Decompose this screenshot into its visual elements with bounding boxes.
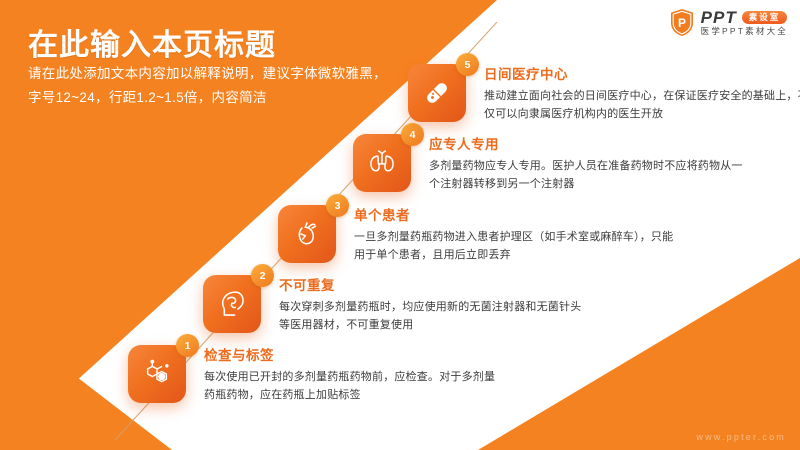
step-3-tile[interactable] <box>278 205 336 263</box>
capsule-icon <box>420 76 454 110</box>
heart-icon <box>290 217 324 251</box>
site-watermark: www.ppter.com <box>696 432 786 442</box>
step-5-title: 日间医疗中心 <box>484 67 800 83</box>
logo-tagline: 医学PPT素材大全 <box>701 27 788 36</box>
step-1-tile-wrap: 1 <box>128 345 186 403</box>
step-5-tile[interactable] <box>408 64 466 122</box>
step-1-desc: 每次使用已开封的多剂量药瓶药物前，应检查。对于多剂量药瓶药物，应在药瓶上加贴标签 <box>204 369 504 404</box>
step-3-tile-wrap: 3 <box>278 205 336 263</box>
shield-letter: P <box>678 16 686 30</box>
step-3-desc: 一旦多剂量药瓶药物进入患者护理区（如手术室或麻醉车），只能用于单个患者，且用后立… <box>354 229 674 264</box>
logo-badge-text: 素设室 <box>742 11 788 24</box>
step-4-desc: 多剂量药物应专人专用。医护人员在准备药物时不应将药物从一个注射器转移到另一个注射… <box>429 158 749 193</box>
molecule-icon <box>140 357 174 391</box>
step-4-title: 应专人专用 <box>429 137 749 153</box>
step-4-tile[interactable] <box>353 134 411 192</box>
step-2-badge: 2 <box>251 264 274 287</box>
step-item-3[interactable]: 3 单个患者 一旦多剂量药瓶药物进入患者护理区（如手术室或麻醉车），只能用于单个… <box>278 205 674 264</box>
step-2-body: 不可重复 每次穿刺多剂量药瓶时，均应使用新的无菌注射器和无菌针头等医用器材，不可… <box>279 275 589 334</box>
step-1-title: 检查与标签 <box>204 348 504 364</box>
step-item-2[interactable]: 2 不可重复 每次穿刺多剂量药瓶时，均应使用新的无菌注射器和无菌针头等医用器材，… <box>203 275 589 334</box>
step-1-badge: 1 <box>176 334 199 357</box>
step-2-desc: 每次穿刺多剂量药瓶时，均应使用新的无菌注射器和无菌针头等医用器材，不可重复使用 <box>279 299 589 334</box>
page-title: 在此输入本页标题 <box>28 20 276 64</box>
step-4-body: 应专人专用 多剂量药物应专人专用。医护人员在准备药物时不应将药物从一个注射器转移… <box>429 134 749 193</box>
step-4-badge: 4 <box>401 123 424 146</box>
step-5-desc: 推动建立面向社会的日间医疗中心，在保证医疗安全的基础上，不仅可以向隶属医疗机构内… <box>484 88 800 123</box>
step-3-body: 单个患者 一旦多剂量药瓶药物进入患者护理区（如手术室或麻醉车），只能用于单个患者… <box>354 205 674 264</box>
step-5-badge: 5 <box>456 53 479 76</box>
step-5-tile-wrap: 5 <box>408 64 466 122</box>
step-2-tile[interactable] <box>203 275 261 333</box>
step-item-1[interactable]: 1 检查与标签 每次使用已开封的多剂量药瓶药物前，应检查。对于多剂量药瓶药物，应… <box>128 345 504 404</box>
head-anatomy-icon <box>215 287 249 321</box>
step-item-4[interactable]: 4 应专人专用 多剂量药物应专人专用。医护人员在准备药物时不应将药物从一个注射器… <box>353 134 749 193</box>
kidneys-icon <box>365 146 399 180</box>
brand-logo[interactable]: P PPT 素设室 医学PPT素材大全 <box>669 8 788 37</box>
step-2-title: 不可重复 <box>279 278 589 294</box>
step-3-badge: 3 <box>326 194 349 217</box>
shield-icon: P <box>669 8 695 37</box>
step-item-5[interactable]: 5 日间医疗中心 推动建立面向社会的日间医疗中心，在保证医疗安全的基础上，不仅可… <box>408 64 800 123</box>
slide-canvas: 在此输入本页标题 请在此处添加文本内容加以解释说明，建议字体微软雅黑，字号12~… <box>0 0 800 450</box>
logo-brand-text: PPT <box>701 9 737 26</box>
step-3-title: 单个患者 <box>354 208 674 224</box>
page-subtitle: 请在此处添加文本内容加以解释说明，建议字体微软雅黑，字号12~24，行距1.2~… <box>28 62 388 109</box>
step-5-body: 日间医疗中心 推动建立面向社会的日间医疗中心，在保证医疗安全的基础上，不仅可以向… <box>484 64 800 123</box>
step-1-tile[interactable] <box>128 345 186 403</box>
step-2-tile-wrap: 2 <box>203 275 261 333</box>
step-1-body: 检查与标签 每次使用已开封的多剂量药瓶药物前，应检查。对于多剂量药瓶药物，应在药… <box>204 345 504 404</box>
step-4-tile-wrap: 4 <box>353 134 411 192</box>
